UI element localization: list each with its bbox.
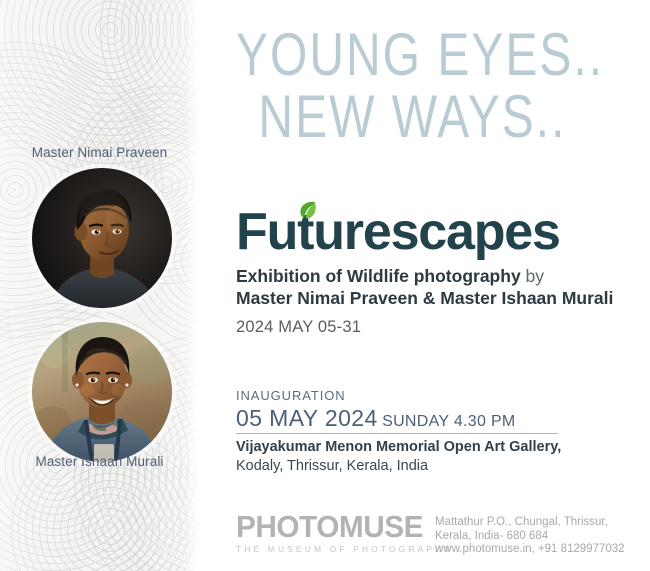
subtitle-line-1: Exhibition of Wildlife photography by <box>236 266 613 288</box>
exhibition-title-text: Futurescapes <box>236 203 560 261</box>
exhibition-title: Futurescapes <box>236 206 560 258</box>
organization-address: Mattathur P.O., Chungal, Thrissur, Keral… <box>435 516 625 557</box>
exhibition-poster: Master Nimai Praveen <box>0 0 650 571</box>
exhibition-date-range: 2024 MAY 05-31 <box>236 318 361 337</box>
subtitle-light: by <box>521 266 544 286</box>
inauguration-label: INAUGURATION <box>236 388 346 403</box>
photomuse-wordmark: PHOTOMUSE <box>236 511 444 543</box>
headline-line-1: YOUNG EYES.. <box>236 24 604 86</box>
portrait-ishaan-murali <box>32 322 172 462</box>
divider-rule <box>236 433 558 434</box>
inauguration-datetime: 05 MAY 2024 SUNDAY 4.30 PM <box>236 405 516 432</box>
venue-line-1: Vijayakumar Menon Memorial Open Art Gall… <box>236 438 561 457</box>
address-line-1: Mattathur P.O., Chungal, Thrissur, <box>435 516 625 530</box>
venue-address: Vijayakumar Menon Memorial Open Art Gall… <box>236 438 561 476</box>
address-line-3: www.photomuse.in, +91 8129977032 <box>435 543 625 557</box>
photographer-name-ishaan-murali: Master Ishaan Murali <box>0 454 199 469</box>
portrait-nimai-praveen <box>32 168 172 308</box>
exhibition-subtitle: Exhibition of Wildlife photography by Ma… <box>236 266 613 309</box>
photographer-name-nimai-praveen: Master Nimai Praveen <box>0 145 199 160</box>
poster-headline: YOUNG EYES.. NEW WAYS.. <box>236 24 604 148</box>
subtitle-line-2: Master Nimai Praveen & Master Ishaan Mur… <box>236 288 613 310</box>
portrait-image-nimai <box>32 168 172 308</box>
subtitle-strong: Exhibition of Wildlife photography <box>236 266 521 286</box>
photomuse-tagline: THE MUSEUM OF PHOTOGRAPHY <box>236 543 453 555</box>
venue-line-2: Kodaly, Thrissur, Kerala, India <box>236 457 561 476</box>
leaf-icon <box>296 200 318 222</box>
headline-line-2: NEW WAYS.. <box>236 86 604 148</box>
photomuse-logo: PHOTOMUSE THE MUSEUM OF PHOTOGRAPHY <box>236 511 453 555</box>
inauguration-date: 05 MAY 2024 <box>236 405 378 431</box>
poster-content: YOUNG EYES.. NEW WAYS.. Futurescapes Exh… <box>199 0 650 571</box>
portrait-image-ishaan <box>32 322 172 462</box>
address-line-2: Kerala, India- 680 684 <box>435 530 625 544</box>
inauguration-time: SUNDAY 4.30 PM <box>382 413 515 430</box>
